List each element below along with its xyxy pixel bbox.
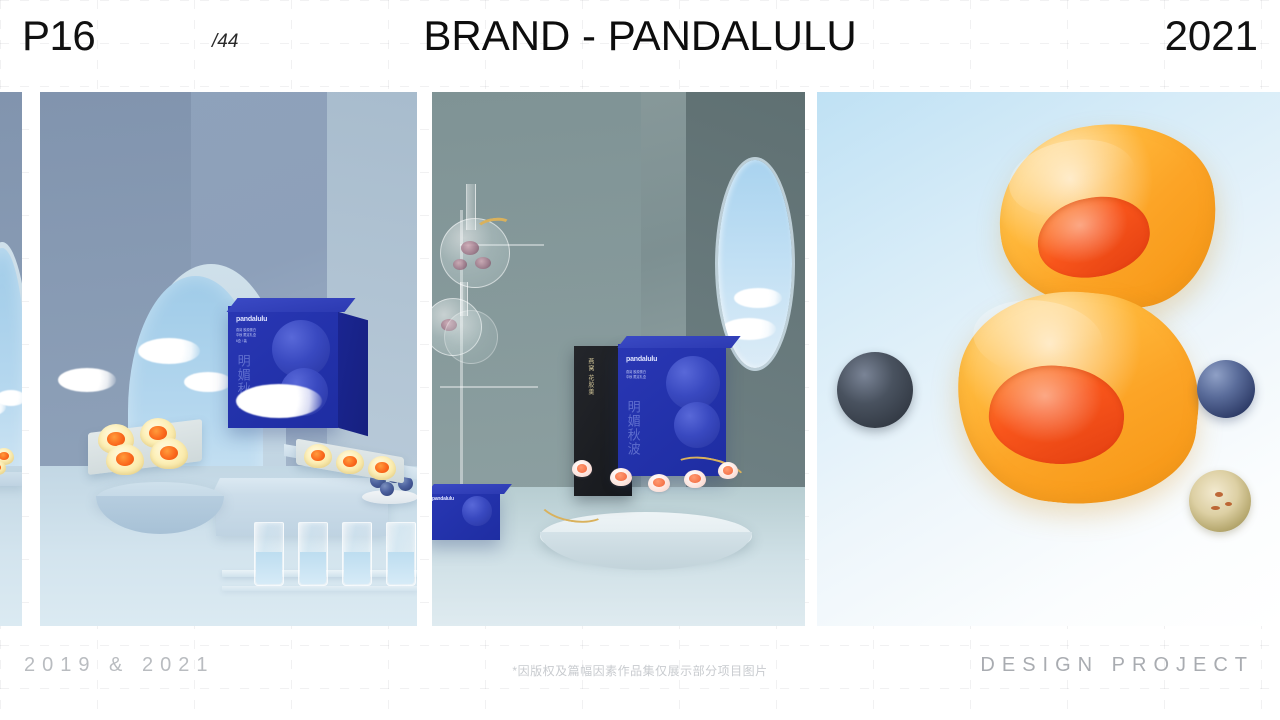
cloud-shape xyxy=(184,372,232,392)
jelly-core xyxy=(375,462,388,473)
vial-liquid xyxy=(256,552,282,584)
box-logo: pandalulu xyxy=(626,356,657,363)
flask-contents xyxy=(475,257,491,269)
black-box-label: 燕窝 花胶羹 xyxy=(586,358,593,416)
box-circle-graphic xyxy=(462,496,492,526)
floor-surface xyxy=(0,466,22,626)
glass-vial xyxy=(342,522,372,586)
gallery-panel-arch-sliver[interactable] xyxy=(0,92,22,626)
page-footer: 2019 & 2021 *因版权及篇幅因素作品集仅展示部分项目图片 DESIGN… xyxy=(0,626,1280,720)
footer-tagline: DESIGN PROJECT xyxy=(980,654,1254,677)
dried-fruit-slice xyxy=(1189,470,1251,532)
image-gallery: pandalulu 燕窝 胶原蛋白中秋 限定礼盒6盒 / 装 明媚秋波 xyxy=(0,92,1280,626)
round-flask xyxy=(444,310,498,364)
gallery-panel-gummy-hero[interactable] xyxy=(817,92,1280,626)
box-subtext: 燕窝 胶原蛋白中秋 限定礼盒 xyxy=(626,370,646,381)
jelly-core xyxy=(116,452,134,466)
jelly-piece xyxy=(150,438,188,469)
mini-jelly xyxy=(572,460,592,477)
product-box-blue-side xyxy=(338,312,368,437)
jelly-piece xyxy=(304,444,332,468)
mini-jelly-core xyxy=(577,464,587,473)
product-box-blue-top xyxy=(617,336,740,348)
fruit-seed xyxy=(1225,502,1232,506)
glass-vial xyxy=(298,522,328,586)
mini-jelly-core xyxy=(723,466,733,475)
product-box-blue: pandalulu 燕窝 胶原蛋白中秋 限定礼盒 明媚秋波 xyxy=(618,344,726,476)
gummy-scene-art xyxy=(817,92,1280,626)
stand-ring xyxy=(440,386,538,388)
mini-jelly-core xyxy=(689,474,700,483)
gummy-fruit-core xyxy=(984,359,1129,470)
mini-jelly xyxy=(648,474,670,492)
jelly-core xyxy=(311,450,324,461)
box-circle-graphic xyxy=(674,402,720,448)
jelly-core xyxy=(0,452,9,460)
mini-jelly-core xyxy=(653,478,664,487)
box-logo: pandalulu xyxy=(432,496,454,502)
cloud-shape xyxy=(138,338,200,364)
lab-scene-art: 燕窝 花胶羹 pandalulu 燕窝 胶原蛋白中秋 限定礼盒 明媚秋波 xyxy=(432,92,805,626)
jelly-piece xyxy=(336,450,364,474)
cloud-shape xyxy=(58,368,116,392)
page-header: P16 /44 BRAND - PANDALULU 2021 xyxy=(0,0,1280,88)
product-box-blue-foreground: pandalulu xyxy=(432,490,500,540)
glass-vial xyxy=(254,522,284,586)
jelly-piece xyxy=(106,444,144,475)
jelly-core xyxy=(343,456,356,467)
box-headline: 明媚秋波 xyxy=(626,400,640,470)
cloud-shape xyxy=(734,288,782,308)
jelly-core xyxy=(0,464,1,471)
mini-jelly-core xyxy=(615,472,626,481)
gummy-candy-lower xyxy=(947,280,1210,516)
flask-contents xyxy=(453,259,467,270)
gallery-panel-arch-package[interactable]: pandalulu 燕窝 胶原蛋白中秋 限定礼盒6盒 / 装 明媚秋波 xyxy=(40,92,417,626)
vial-liquid xyxy=(300,552,326,584)
jelly-core xyxy=(160,446,178,460)
product-box-foreground-top xyxy=(432,484,512,494)
mini-jelly xyxy=(718,462,738,479)
glass-vial xyxy=(386,522,416,586)
plinth xyxy=(0,472,22,486)
jelly-piece xyxy=(368,456,396,480)
blueberry-right xyxy=(1197,360,1255,418)
year-label: 2021 xyxy=(1165,12,1258,60)
cloud-shape xyxy=(0,390,22,406)
vial-liquid xyxy=(344,552,370,584)
vial-liquid xyxy=(388,552,414,584)
mini-jelly xyxy=(684,470,706,488)
arch-scene-sliver-art xyxy=(0,92,22,626)
mini-jelly xyxy=(610,468,632,486)
blueberry-left xyxy=(837,352,913,428)
fruit-seed xyxy=(1211,506,1220,510)
product-box-blue-top xyxy=(227,298,356,312)
blueberry xyxy=(380,482,394,496)
gallery-panel-lab-package[interactable]: 燕窝 花胶羹 pandalulu 燕窝 胶原蛋白中秋 限定礼盒 明媚秋波 xyxy=(432,92,805,626)
fruit-seed xyxy=(1215,492,1223,497)
arch-scene-art: pandalulu 燕窝 胶原蛋白中秋 限定礼盒6盒 / 装 明媚秋波 xyxy=(40,92,417,626)
box-subtext: 燕窝 胶原蛋白中秋 限定礼盒6盒 / 装 xyxy=(236,328,256,344)
glass-shelf-lower xyxy=(222,586,417,591)
cloud-shape xyxy=(236,384,322,418)
page-title: BRAND - PANDALULU xyxy=(0,12,1280,60)
flask-contents xyxy=(461,241,479,255)
box-logo: pandalulu xyxy=(236,316,267,323)
